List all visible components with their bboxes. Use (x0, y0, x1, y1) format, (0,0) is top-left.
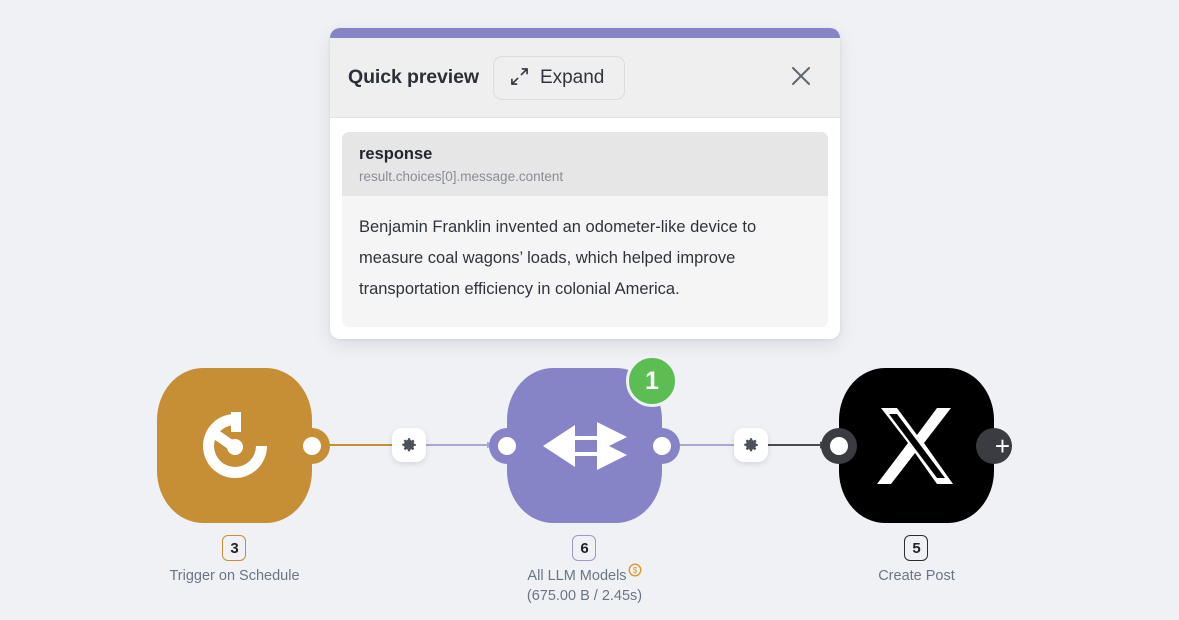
branch-merge-icon (535, 403, 635, 489)
workflow-node-post[interactable]: + 5 Create Post (839, 368, 994, 584)
trigger-step-badge: 3 (222, 535, 246, 561)
post-step-badge: 5 (904, 535, 928, 561)
gear-icon (742, 436, 760, 454)
diagonal-arrows-icon (510, 67, 529, 89)
llm-status-badge: 1 (626, 355, 678, 407)
llm-metrics: (675.00 B / 2.45s) (527, 588, 642, 604)
response-card: response result.choices[0].message.conte… (342, 132, 828, 327)
panel-body: response result.choices[0].message.conte… (330, 118, 840, 339)
llm-label: All LLM Models (527, 568, 626, 584)
expand-button-label: Expand (540, 67, 604, 89)
quick-preview-panel: Quick preview Expand response result.cho (330, 28, 840, 339)
trigger-output-port[interactable] (303, 437, 321, 455)
llm-node-body[interactable]: 1 (507, 368, 662, 523)
post-node-body[interactable]: + (839, 368, 994, 523)
timer-icon (187, 398, 283, 494)
panel-header: Quick preview Expand (330, 38, 840, 118)
response-text: Benjamin Franklin invented an odometer-l… (342, 196, 828, 327)
post-input-port[interactable] (830, 437, 848, 455)
trigger-node-body[interactable] (157, 368, 312, 523)
workflow-node-trigger[interactable]: 3 Trigger on Schedule (157, 368, 312, 584)
expand-button[interactable]: Expand (493, 56, 625, 100)
trigger-label: Trigger on Schedule (169, 568, 299, 584)
post-caption: 5 Create Post (878, 535, 955, 584)
close-icon (789, 64, 813, 91)
x-logo-icon (871, 400, 963, 492)
close-button[interactable] (784, 61, 818, 95)
gear-icon (400, 436, 418, 454)
llm-input-port[interactable] (498, 437, 516, 455)
add-node-button[interactable]: + (995, 433, 1010, 459)
panel-accent-bar (330, 28, 840, 38)
response-card-header: response result.choices[0].message.conte… (342, 132, 828, 196)
dollar-coin-icon: $ (628, 563, 642, 581)
response-key: response (359, 144, 811, 165)
llm-label-row: All LLM Models $ (527, 568, 641, 584)
post-label: Create Post (878, 568, 955, 584)
response-path: result.choices[0].message.content (359, 168, 811, 186)
connector-gear-llm-to-post[interactable] (734, 428, 768, 462)
llm-step-badge: 6 (572, 535, 596, 561)
svg-text:$: $ (632, 566, 637, 575)
llm-output-port[interactable] (653, 437, 671, 455)
connector-gear-trigger-to-llm[interactable] (392, 428, 426, 462)
panel-title: Quick preview (348, 66, 479, 89)
workflow-node-llm[interactable]: 1 6 All LLM Models $ (675.00 B / 2.45s) (507, 368, 662, 604)
trigger-caption: 3 Trigger on Schedule (169, 535, 299, 584)
llm-caption: 6 All LLM Models $ (675.00 B / 2.45s) (527, 535, 642, 604)
